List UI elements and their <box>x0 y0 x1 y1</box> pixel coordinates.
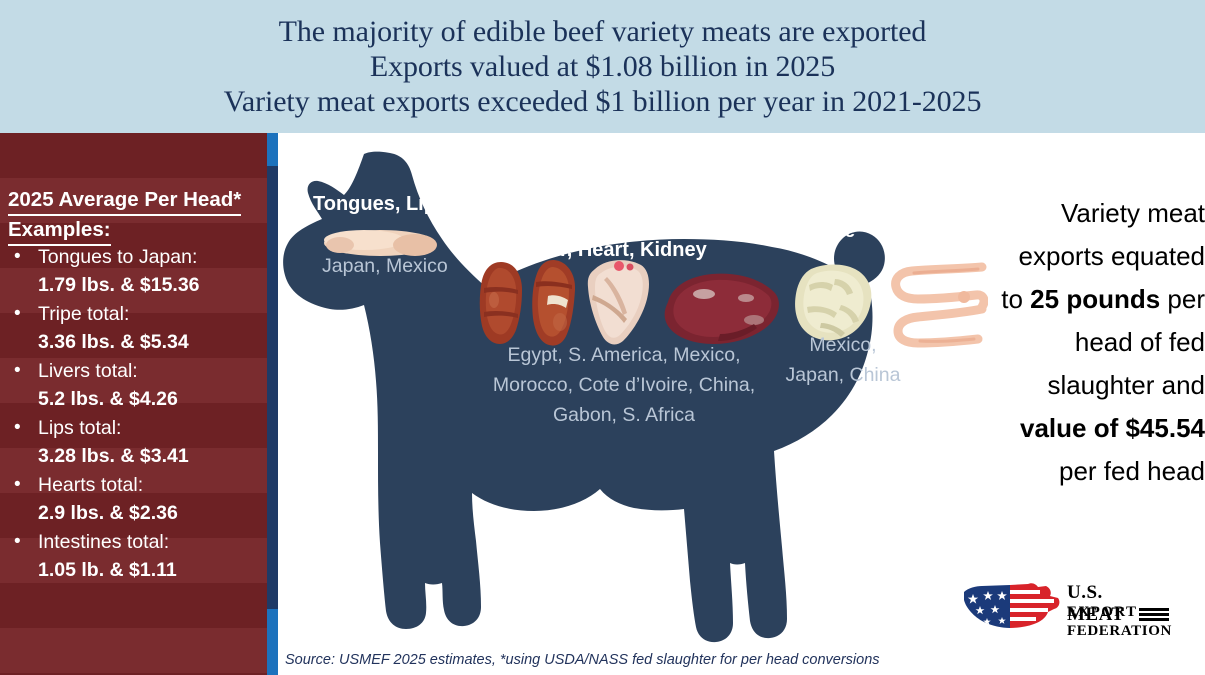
list-item-label: Livers total: <box>38 357 266 385</box>
divider-accent-bottom <box>267 609 278 675</box>
cow-label-liver-heart-kidney: Liver, Heart, Kidney <box>520 239 707 262</box>
bullet-icon: • <box>14 357 21 385</box>
heart-organ-image <box>583 255 653 347</box>
logo-line-2: EXPORT <box>1067 604 1137 621</box>
kidney-organ-image <box>530 258 578 348</box>
right-line-3: to 25 pounds per <box>955 278 1205 321</box>
countries-line-3: Gabon, S. Africa <box>474 400 774 430</box>
kidney-organ-image <box>478 260 524 345</box>
cow-label-tongues-lips: Tongues, Lips <box>313 193 447 216</box>
cow-countries-liver-heart-kidney: Egypt, S. America, Mexico, Morocco, Cote… <box>474 340 774 430</box>
countries-line-1: Mexico, <box>778 330 908 360</box>
sidebar-heading-line-2: Examples: <box>8 216 111 246</box>
bullet-icon: • <box>14 528 21 556</box>
slide-root: The majority of edible beef variety meat… <box>0 0 1205 675</box>
divider-accent-top <box>267 133 278 166</box>
source-note: Source: USMEF 2025 estimates, *using USD… <box>285 652 880 668</box>
sidebar-heading-line-1: 2025 Average Per Head* <box>8 186 241 216</box>
list-item-value: 5.2 lbs. & $4.26 <box>38 385 266 413</box>
header-banner: The majority of edible beef variety meat… <box>0 0 1205 133</box>
right-line-4: head of fed <box>955 321 1205 364</box>
bullet-icon: • <box>14 414 21 442</box>
list-item-value: 3.28 lbs. & $3.41 <box>38 442 266 470</box>
list-item-value: 3.36 lbs. & $5.34 <box>38 328 266 356</box>
list-item: • Tongues to Japan: 1.79 lbs. & $15.36 <box>8 243 266 299</box>
list-item: • Intestines total: 1.05 lb. & $1.11 <box>8 528 266 584</box>
sidebar-heading: 2025 Average Per Head* Examples: <box>8 186 266 246</box>
right-line-3-highlight: 25 pounds <box>1030 284 1160 314</box>
countries-line-2: Japan, China <box>778 360 908 390</box>
sidebar-content: 2025 Average Per Head* Examples: • Tongu… <box>0 133 267 675</box>
label-line-2: Intestine <box>761 218 871 245</box>
right-line-3-prefix: to <box>1001 284 1030 314</box>
logo-line-3: FEDERATION <box>1067 623 1172 640</box>
logo-bars-icon <box>1139 608 1169 623</box>
list-item-label: Lips total: <box>38 414 266 442</box>
list-item: • Hearts total: 2.9 lbs. & $2.36 <box>8 471 266 527</box>
list-item: • Livers total: 5.2 lbs. & $4.26 <box>8 357 266 413</box>
right-line-6: value of $45.54 <box>955 407 1205 450</box>
bullet-icon: • <box>14 471 21 499</box>
right-line-2: exports equated <box>955 235 1205 278</box>
header-title-line-1: The majority of edible beef variety meat… <box>279 14 927 49</box>
list-item-label: Tripe total: <box>38 300 266 328</box>
header-title-line-3: Variety meat exports exceeded $1 billion… <box>224 84 982 119</box>
vertical-divider <box>267 133 278 675</box>
bullet-icon: • <box>14 300 21 328</box>
right-line-6-highlight: value of $45.54 <box>1020 413 1205 443</box>
countries-line-1: Egypt, S. America, Mexico, <box>474 340 774 370</box>
right-line-3-suffix: per <box>1160 284 1205 314</box>
header-title-line-2: Exports valued at $1.08 billion in 2025 <box>370 49 835 84</box>
right-summary-text: Variety meat exports equated to 25 pound… <box>955 192 1205 493</box>
countries-line-2: Morocco, Cote d’Ivoire, China, <box>474 370 774 400</box>
bullet-icon: • <box>14 243 21 271</box>
cow-countries-tongues-lips: Japan, Mexico <box>322 255 448 278</box>
list-item-value: 2.9 lbs. & $2.36 <box>38 499 266 527</box>
list-item-label: Intestines total: <box>38 528 266 556</box>
sidebar-panel: 2025 Average Per Head* Examples: • Tongu… <box>0 133 267 675</box>
list-item: • Tripe total: 3.36 lbs. & $5.34 <box>8 300 266 356</box>
cow-diagram: Tongues, Lips Japan, Mexico Liver, Heart… <box>278 133 978 653</box>
right-line-1: Variety meat <box>955 192 1205 235</box>
liver-organ-image <box>660 268 782 348</box>
list-item-value: 1.05 lb. & $1.11 <box>38 556 266 584</box>
list-item-label: Hearts total: <box>38 471 266 499</box>
cow-label-stomach-intestine: Stomach, Intestine <box>761 191 871 245</box>
usa-map-flag-icon <box>962 578 1062 636</box>
list-item: • Lips total: 3.28 lbs. & $3.41 <box>8 414 266 470</box>
cow-countries-stomach-intestine: Mexico, Japan, China <box>778 330 908 390</box>
sidebar-list: • Tongues to Japan: 1.79 lbs. & $15.36 •… <box>8 243 266 585</box>
right-line-5: slaughter and <box>955 364 1205 407</box>
label-line-1: Stomach, <box>761 191 871 218</box>
list-item-label: Tongues to Japan: <box>38 243 266 271</box>
list-item-value: 1.79 lbs. & $15.36 <box>38 271 266 299</box>
usmef-logo: U.S. MEAT EXPORT FEDERATION <box>962 578 1167 640</box>
right-line-7: per fed head <box>955 450 1205 493</box>
